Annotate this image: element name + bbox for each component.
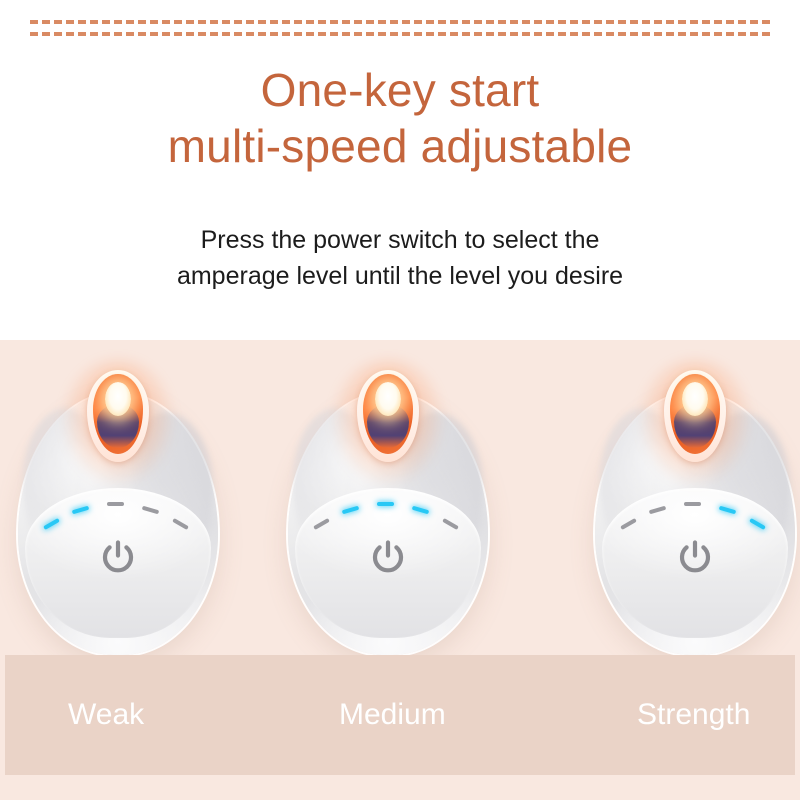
indicator-segment <box>442 518 459 530</box>
device-strength <box>570 368 800 668</box>
product-showcase-section: Weak Medium Strength <box>0 340 800 800</box>
device-weak <box>0 368 243 668</box>
page-title: One-key start multi-speed adjustable <box>0 62 800 174</box>
power-button-icon[interactable] <box>674 536 716 578</box>
label-weak: Weak <box>68 695 144 735</box>
indicator-segment <box>412 506 429 515</box>
level-label-band: Weak Medium Strength <box>5 655 795 775</box>
indicator-segment <box>620 518 637 530</box>
indicator-segment <box>142 506 159 515</box>
indicator-segment <box>749 518 766 530</box>
led-head-icon <box>664 370 726 462</box>
dashed-divider-bottom <box>30 32 770 36</box>
indicator-segment <box>313 518 330 530</box>
led-core-light <box>682 382 708 416</box>
indicator-segment <box>342 506 359 515</box>
power-button-icon[interactable] <box>367 536 409 578</box>
indicator-segment <box>684 502 701 506</box>
title-line-1: One-key start <box>0 62 800 118</box>
indicator-segment <box>107 502 124 506</box>
led-core-light <box>105 382 131 416</box>
indicator-segment <box>43 518 60 530</box>
product-infographic: One-key start multi-speed adjustable Pre… <box>0 0 800 800</box>
led-head-icon <box>357 370 419 462</box>
indicator-segment <box>377 502 394 506</box>
led-head-icon <box>87 370 149 462</box>
title-line-2: multi-speed adjustable <box>0 118 800 174</box>
dashed-divider-top <box>30 20 770 24</box>
indicator-segment <box>719 506 736 515</box>
label-strength: Strength <box>637 695 750 735</box>
power-button-icon[interactable] <box>97 536 139 578</box>
device-medium <box>263 368 513 668</box>
indicator-segment <box>649 506 666 515</box>
label-medium: Medium <box>339 695 446 735</box>
indicator-segment <box>172 518 189 530</box>
header-section: One-key start multi-speed adjustable Pre… <box>0 0 800 340</box>
subtitle-line-2: amperage level until the level you desir… <box>0 258 800 294</box>
indicator-segment <box>72 506 89 515</box>
subtitle-line-1: Press the power switch to select the <box>0 222 800 258</box>
page-subtitle: Press the power switch to select the amp… <box>0 222 800 294</box>
led-core-light <box>375 382 401 416</box>
